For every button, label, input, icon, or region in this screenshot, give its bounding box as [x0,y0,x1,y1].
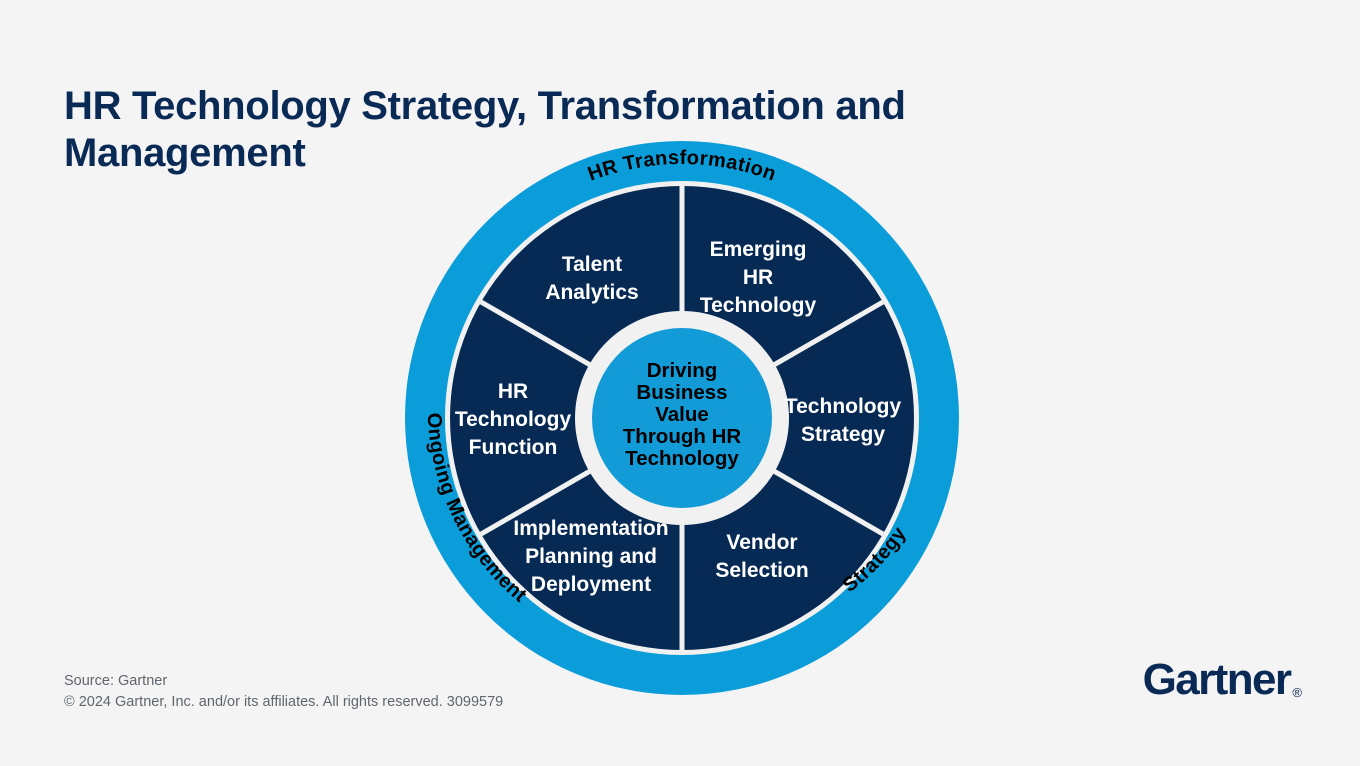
segment-label-line: Technology [785,395,902,418]
hub-label-line: Value [655,403,709,426]
hub-label-line: Through HR [623,425,742,448]
segment-label-line: HR [743,266,773,289]
hr-technology-wheel-diagram: Emerging HR Technology Technology Strate… [405,141,959,695]
gartner-logo: Gartner ® [1143,658,1302,702]
hub-label-line: Business [636,381,727,404]
copyright-line: © 2024 Gartner, Inc. and/or its affiliat… [64,692,503,713]
segment-label-line: Technology [700,294,817,317]
segment-label-line: Strategy [801,423,885,446]
segment-label-line: Emerging [710,238,807,261]
source-line: Source: Gartner [64,671,503,692]
segment-label-line: Selection [715,559,808,582]
hub-label-line: Technology [625,447,739,470]
logo-wordmark: Gartner [1143,658,1291,702]
segment-label-line: Vendor [726,531,797,554]
segment-label-line: Talent [562,253,622,276]
registered-trademark-icon: ® [1292,686,1302,699]
segment-label-line: Analytics [545,281,638,304]
segment-label-line: Implementation [513,517,668,540]
segment-label-line: Function [469,436,558,459]
segment-label-line: Deployment [531,573,651,596]
segment-label-line: Planning and [525,545,657,568]
segment-label-implementation-planning-and-deployment[interactable]: Implementation Planning and Deployment [513,517,668,596]
hub-label-line: Driving [647,359,718,382]
footer-attribution: Source: Gartner © 2024 Gartner, Inc. and… [64,671,503,713]
segment-label-line: HR [498,380,528,403]
segment-label-line: Technology [455,408,572,431]
